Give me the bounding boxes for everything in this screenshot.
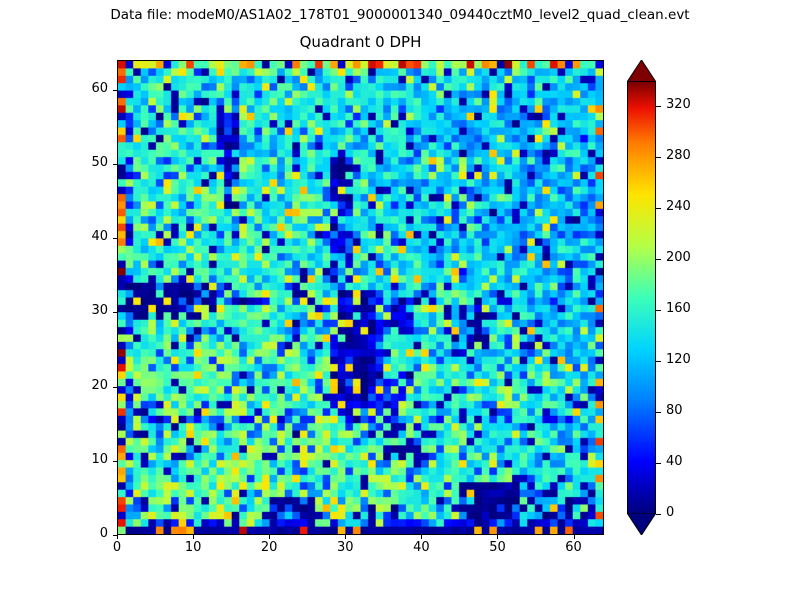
x-tick-label: 30 <box>315 540 375 555</box>
colorbar-extend-min-arrow-icon <box>627 513 656 535</box>
axes-title: Quadrant 0 DPH <box>117 33 604 51</box>
x-tick-mark <box>574 535 575 539</box>
colorbar-tick-mark <box>656 208 661 209</box>
colorbar-tick-mark <box>656 412 661 413</box>
y-tick-mark <box>113 238 117 239</box>
y-tick-label: 10 <box>48 452 108 467</box>
colorbar-tick-mark <box>656 310 661 311</box>
colorbar-tick-label: 0 <box>666 505 674 520</box>
heatmap-axes <box>117 60 604 535</box>
matplotlib-figure: Data file: modeM0/AS1A02_178T01_90000013… <box>0 0 800 600</box>
colorbar-gradient <box>627 81 656 514</box>
colorbar-tick-label: 240 <box>666 199 691 214</box>
colorbar-tick-mark <box>656 259 661 260</box>
y-tick-mark <box>113 312 117 313</box>
colorbar-tick-mark <box>656 106 661 107</box>
x-tick-mark <box>193 535 194 539</box>
x-tick-label: 60 <box>544 540 604 555</box>
x-tick-mark <box>117 535 118 539</box>
colorbar-tick-mark <box>656 157 661 158</box>
y-tick-label: 60 <box>48 81 108 96</box>
y-tick-label: 30 <box>48 303 108 318</box>
y-tick-mark <box>113 164 117 165</box>
x-tick-label: 10 <box>163 540 223 555</box>
colorbar-tick-label: 80 <box>666 403 683 418</box>
x-tick-mark <box>497 535 498 539</box>
colorbar-tick-label: 120 <box>666 352 691 367</box>
heatmap-image <box>118 61 603 534</box>
colorbar-tick-mark <box>656 463 661 464</box>
y-tick-mark <box>113 90 117 91</box>
x-tick-label: 20 <box>239 540 299 555</box>
colorbar-tick-label: 160 <box>666 301 691 316</box>
colorbar-tick-label: 200 <box>666 250 691 265</box>
x-tick-mark <box>421 535 422 539</box>
colorbar-tick-label: 320 <box>666 97 691 112</box>
y-tick-mark <box>113 387 117 388</box>
y-tick-mark <box>113 535 117 536</box>
y-tick-mark <box>113 461 117 462</box>
x-tick-label: 50 <box>467 540 527 555</box>
y-tick-label: 0 <box>48 526 108 541</box>
colorbar-tick-label: 40 <box>666 454 683 469</box>
y-tick-label: 20 <box>48 378 108 393</box>
colorbar-tick-mark <box>656 361 661 362</box>
x-tick-mark <box>345 535 346 539</box>
x-tick-label: 0 <box>87 540 147 555</box>
x-tick-mark <box>269 535 270 539</box>
colorbar: 04080120160200240280320 <box>627 60 656 535</box>
x-tick-label: 40 <box>391 540 451 555</box>
colorbar-tick-mark <box>656 514 661 515</box>
colorbar-extend-max-arrow-icon <box>627 60 656 82</box>
colorbar-tick-label: 280 <box>666 148 691 163</box>
y-tick-label: 40 <box>48 229 108 244</box>
figure-suptitle: Data file: modeM0/AS1A02_178T01_90000013… <box>0 7 800 23</box>
y-tick-label: 50 <box>48 155 108 170</box>
